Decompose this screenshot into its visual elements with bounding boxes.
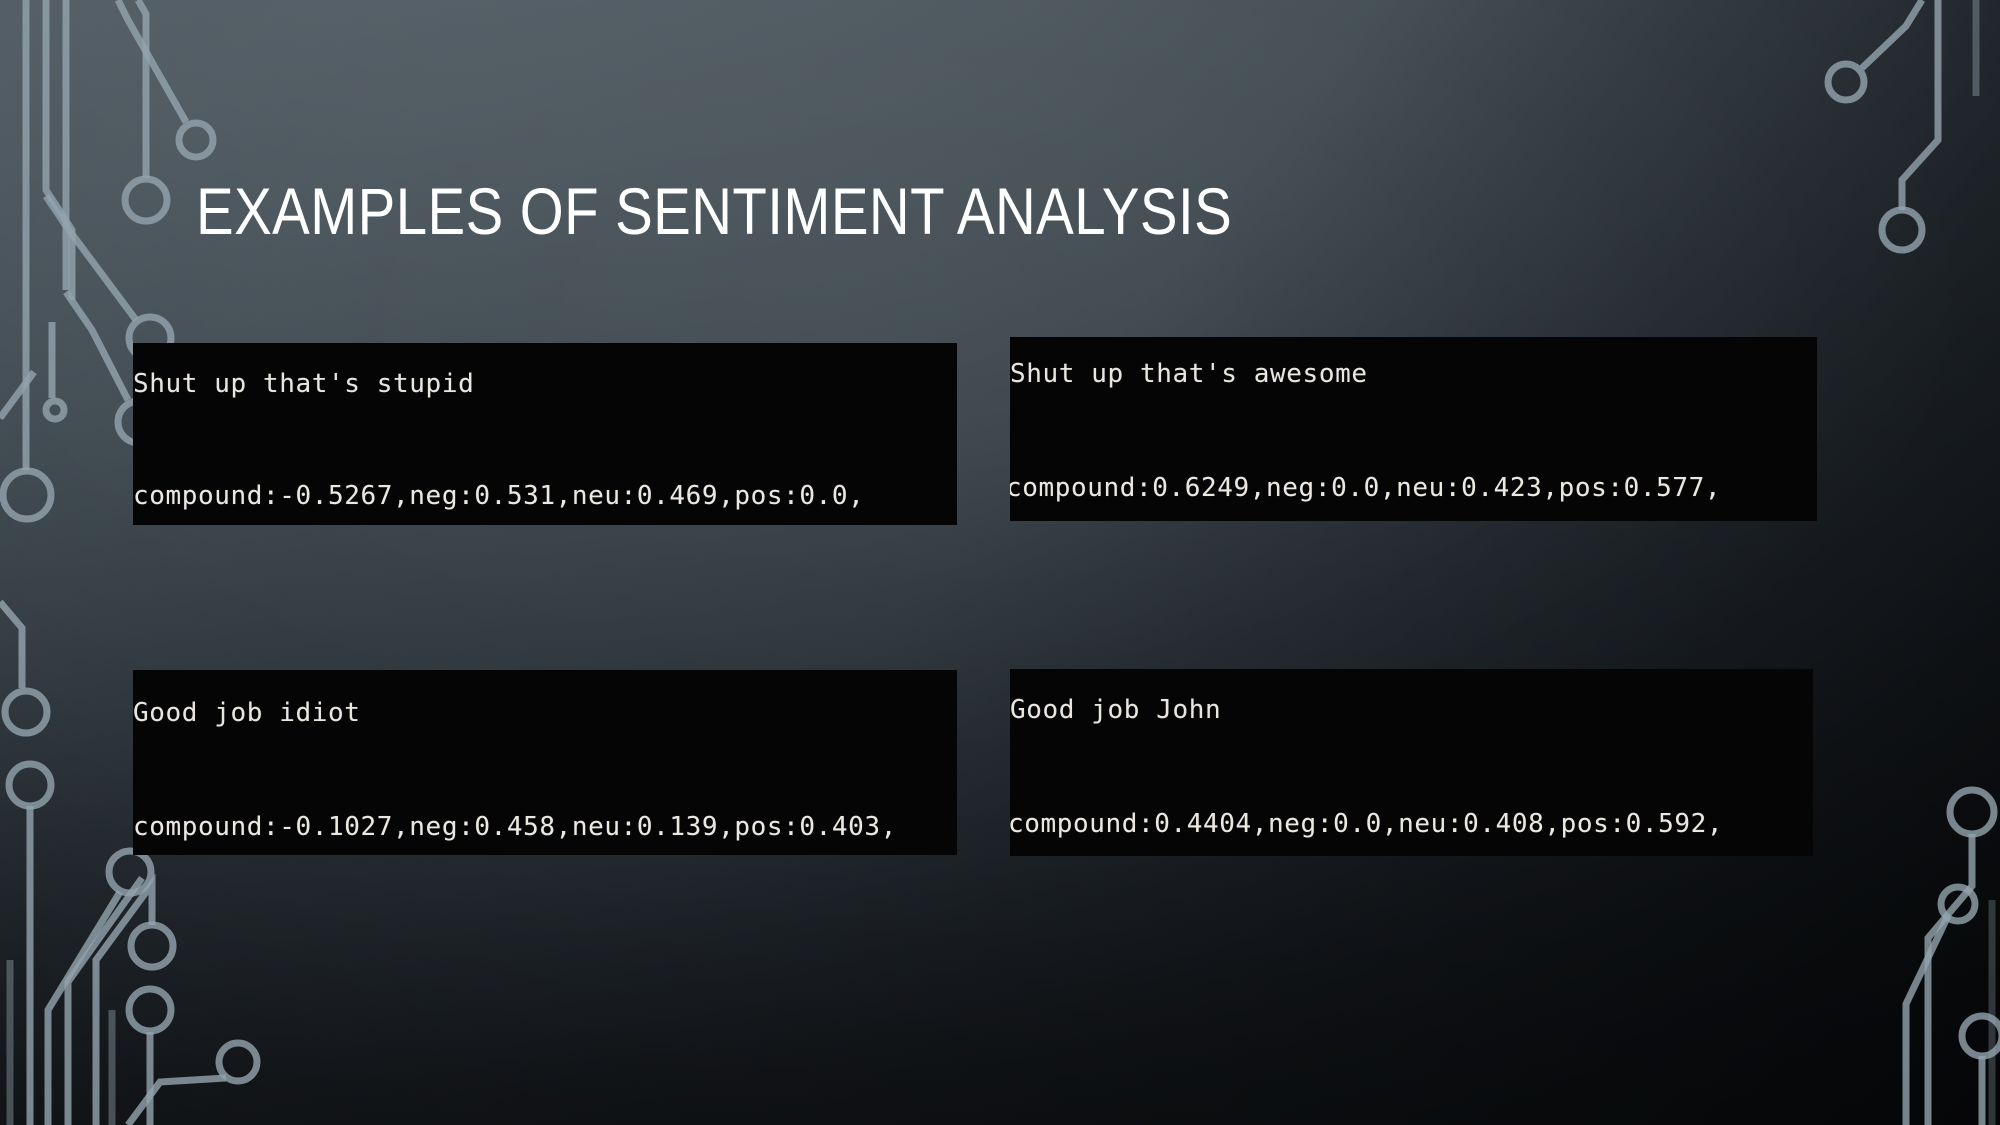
console-sentiment-scores: compound:-0.1027,neg:0.458,neu:0.139,pos… xyxy=(133,812,897,842)
console-input-text: Shut up that's awesome xyxy=(1010,359,1368,389)
sentiment-output-good-job-john: Good job John compound:0.4404,neg:0.0,ne… xyxy=(1010,669,1813,856)
sentiment-output-shut-up-awesome: Shut up that's awesome compound:0.6249,n… xyxy=(1010,337,1817,521)
console-sentiment-scores: compound:0.4404,neg:0.0,neu:0.408,pos:0.… xyxy=(1010,809,1723,839)
slide-background-vignette xyxy=(0,0,2000,1125)
console-input-text: Shut up that's stupid xyxy=(133,369,474,399)
sentiment-output-shut-up-stupid: Shut up that's stupid compound:-0.5267,n… xyxy=(133,343,957,525)
console-input-text: Good job idiot xyxy=(133,698,361,728)
presentation-slide: EXAMPLES OF SENTIMENT ANALYSIS Shut up t… xyxy=(0,0,2000,1125)
sentiment-output-good-job-idiot: Good job idiot compound:-0.1027,neg:0.45… xyxy=(133,670,957,855)
console-input-text: Good job John xyxy=(1010,695,1221,725)
console-sentiment-scores: compound:0.6249,neg:0.0,neu:0.423,pos:0.… xyxy=(1010,473,1721,503)
console-sentiment-scores: compound:-0.5267,neg:0.531,neu:0.469,pos… xyxy=(133,481,864,511)
page-title: EXAMPLES OF SENTIMENT ANALYSIS xyxy=(196,178,1232,244)
